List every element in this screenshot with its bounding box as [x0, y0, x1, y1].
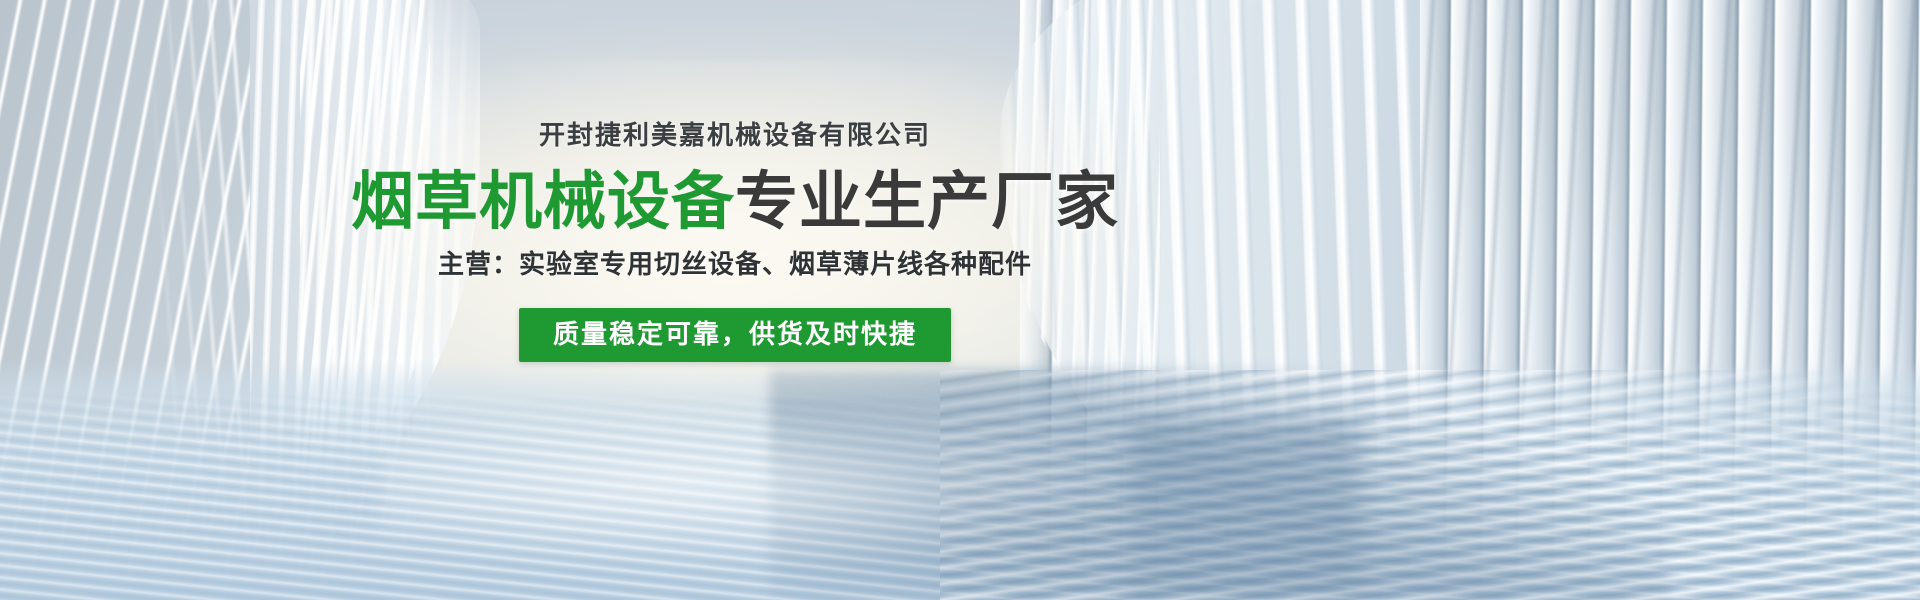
hero-banner: 开封捷利美嘉机械设备有限公司 烟草机械设备专业生产厂家 主营：实验室专用切丝设备… [0, 0, 1920, 600]
headline-highlight: 烟草机械设备 [351, 167, 735, 237]
company-name: 开封捷利美嘉机械设备有限公司 [330, 120, 1140, 151]
banner-content: 开封捷利美嘉机械设备有限公司 烟草机械设备专业生产厂家 主营：实验室专用切丝设备… [0, 0, 1920, 600]
banner-subtitle: 主营：实验室专用切丝设备、烟草薄片线各种配件 [330, 248, 1140, 282]
cta-button[interactable]: 质量稳定可靠，供货及时快捷 [519, 308, 951, 363]
banner-text-column: 开封捷利美嘉机械设备有限公司 烟草机械设备专业生产厂家 主营：实验室专用切丝设备… [330, 120, 1140, 362]
banner-headline: 烟草机械设备专业生产厂家 [330, 167, 1140, 238]
cta-container: 质量稳定可靠，供货及时快捷 [330, 308, 1140, 363]
headline-rest: 专业生产厂家 [735, 167, 1119, 237]
